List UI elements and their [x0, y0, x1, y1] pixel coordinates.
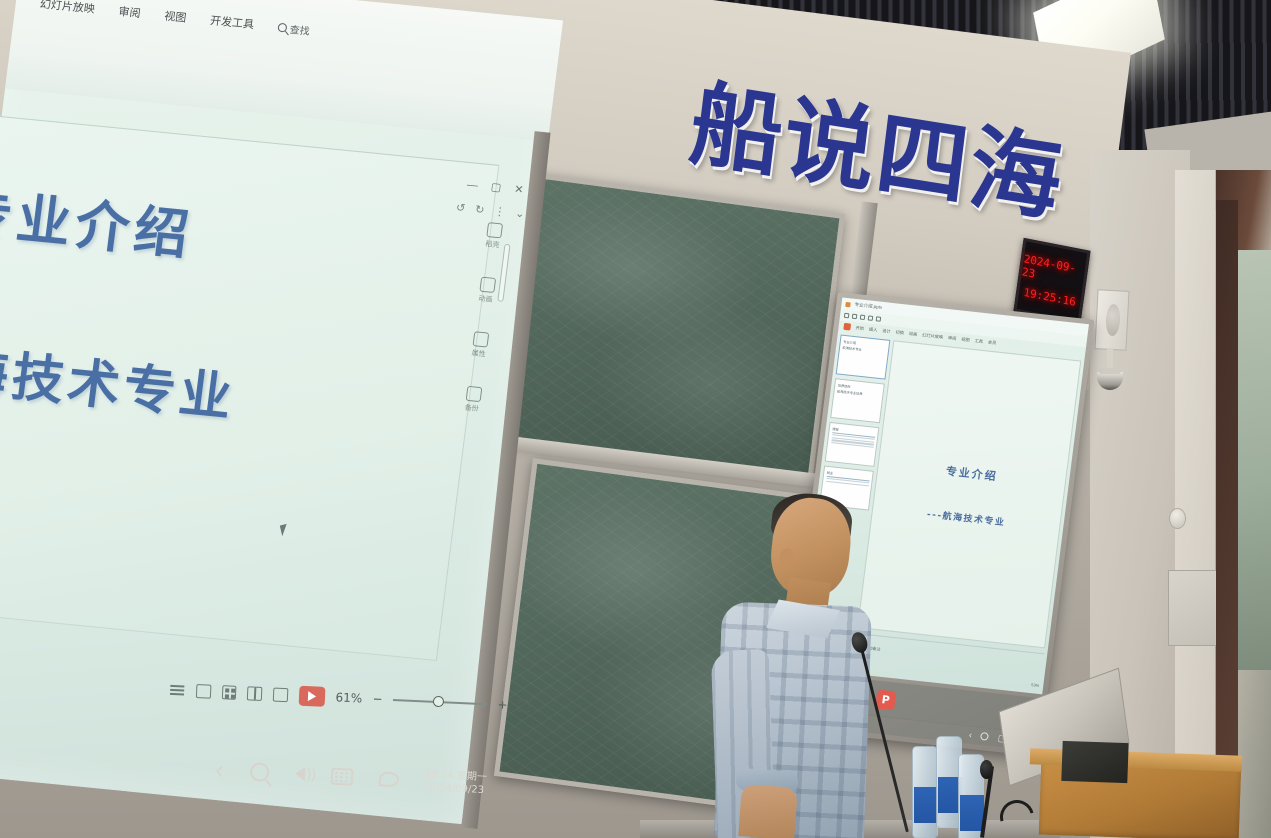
- lectern-equipment-bay: [1061, 741, 1128, 783]
- slide-sorter-view-icon[interactable]: [221, 685, 236, 700]
- door-leaf: [1216, 200, 1238, 820]
- keyboard-icon[interactable]: [330, 767, 353, 785]
- zoom-slider[interactable]: [393, 699, 487, 705]
- print-icon[interactable]: [852, 314, 858, 320]
- smartboard-workspace: 专业介绍 航海技术专业 培养目标 航海技术专业培养 课程: [801, 331, 1085, 651]
- side-panel-item-docer[interactable]: 稻壳: [484, 222, 502, 250]
- menu-review[interactable]: 审阅: [948, 335, 957, 342]
- status-right-group: 53%: [1031, 682, 1040, 688]
- backup-icon: [465, 386, 482, 402]
- start-slideshow-button[interactable]: [299, 686, 325, 707]
- os-clock-date: 2024/09/23: [426, 781, 484, 798]
- ribbon-tab-developer[interactable]: 开发工具: [209, 12, 255, 32]
- wps-app-icon: [845, 301, 851, 307]
- properties-icon: [472, 331, 489, 347]
- led-clock-time: 19:25:16: [1023, 286, 1077, 309]
- smartboard-slide-title: 专业介绍: [945, 462, 999, 483]
- slide-subtitle: 航海技术专业: [0, 324, 240, 431]
- classroom-scene: 五洲 船说四海 2024-09-23 19:25:16 幻灯片放映 审阅 视图 …: [0, 0, 1271, 838]
- document-tab-label[interactable]: 专业介绍.pptx: [854, 302, 882, 311]
- ribbon-band: 幻灯片放映 审阅 视图 开发工具 查找: [5, 0, 563, 142]
- menu-transition[interactable]: 切换: [895, 329, 904, 336]
- led-clock-date: 2024-09-23: [1021, 252, 1086, 290]
- menu-animation[interactable]: 动画: [909, 330, 918, 337]
- lectern-microphone-head: [980, 760, 993, 779]
- side-panel-label-backup: 备份: [464, 403, 479, 414]
- undo-icon[interactable]: ↺: [455, 201, 466, 215]
- search-icon: [277, 22, 287, 32]
- menu-design[interactable]: 设计: [882, 328, 891, 335]
- wall-speaker: [1094, 289, 1129, 351]
- menu-member[interactable]: 会员: [988, 339, 997, 346]
- redo-icon[interactable]: [868, 315, 874, 321]
- zoom-out-button[interactable]: −: [373, 691, 383, 708]
- menu-slideshow[interactable]: 幻灯片放映: [922, 332, 944, 340]
- zoom-in-button[interactable]: +: [498, 696, 508, 713]
- volume-icon[interactable]: [294, 767, 305, 782]
- comment-icon[interactable]: [378, 771, 399, 787]
- presenter-forearm: [738, 784, 797, 838]
- docer-icon: [486, 222, 503, 238]
- slide-thumbnail[interactable]: 专业介绍 航海技术专业: [836, 335, 891, 380]
- zoom-level-label: 61%: [335, 690, 362, 705]
- door-glass-pane: [1238, 250, 1271, 670]
- side-panel-label-docer: 稻壳: [485, 239, 500, 250]
- chalkboard-upper: [497, 172, 845, 482]
- ribbon-tab-list: 幻灯片放映 审阅 视图 开发工具 查找: [39, 0, 311, 38]
- save-icon[interactable]: [844, 313, 850, 319]
- search-icon[interactable]: [249, 762, 269, 782]
- led-wall-clock: 2024-09-23 19:25:16: [1013, 238, 1090, 324]
- notes-view-icon[interactable]: [273, 688, 288, 703]
- new-slide-icon[interactable]: [876, 316, 882, 322]
- side-panel-item-backup[interactable]: 备份: [464, 386, 482, 414]
- os-clock: 19:24 星期一 2024/09/23: [424, 767, 487, 797]
- search-icon[interactable]: [980, 732, 989, 741]
- normal-view-icon[interactable]: [196, 684, 211, 699]
- find-button[interactable]: 查找: [277, 19, 311, 37]
- side-panel-item-animation[interactable]: 动画: [477, 277, 495, 305]
- wps-logo-icon: [843, 323, 851, 331]
- side-panel-label-properties: 属性: [471, 348, 486, 359]
- reading-view-icon[interactable]: [247, 686, 262, 701]
- zoom-slider-knob[interactable]: [433, 696, 444, 707]
- ribbon-tab-review[interactable]: 审阅: [118, 3, 142, 21]
- fit-to-window-icon[interactable]: [518, 700, 530, 713]
- powerpoint-app-icon[interactable]: P: [875, 689, 896, 710]
- menu-insert[interactable]: 插入: [869, 326, 878, 333]
- animation-icon: [479, 277, 496, 293]
- slide-thumbnail[interactable]: 课程: [825, 422, 880, 467]
- find-label: 查找: [289, 20, 311, 37]
- right-wall-pillar: [1175, 170, 1215, 838]
- menu-tools[interactable]: 工具: [974, 338, 983, 345]
- ribbon-tab-view[interactable]: 视图: [163, 8, 187, 26]
- undo-icon[interactable]: [860, 315, 866, 321]
- ribbon-tab-slideshow[interactable]: 幻灯片放映: [39, 0, 96, 17]
- smartboard-zoom-label: 53%: [1031, 682, 1040, 688]
- menu-start[interactable]: 开始: [855, 325, 864, 332]
- slide-title: 专业介绍: [0, 169, 199, 270]
- water-bottle: [912, 746, 938, 838]
- side-panel-label-animation: 动画: [478, 294, 493, 305]
- back-button[interactable]: ‹: [215, 756, 225, 782]
- smartboard-slide-canvas[interactable]: 专业介绍 ---航海技术专业: [857, 340, 1081, 648]
- wall-sensor: [1169, 508, 1186, 529]
- back-button[interactable]: ‹: [968, 730, 972, 740]
- mouse-cursor: [280, 524, 289, 536]
- side-panel-item-properties[interactable]: 属性: [470, 331, 488, 359]
- slide-thumbnail[interactable]: 培养目标 航海技术专业培养: [830, 378, 885, 423]
- smartboard-slide-subtitle: ---航海技术专业: [926, 506, 1006, 527]
- outline-view-icon[interactable]: [170, 683, 185, 698]
- menu-view[interactable]: 视图: [961, 336, 970, 343]
